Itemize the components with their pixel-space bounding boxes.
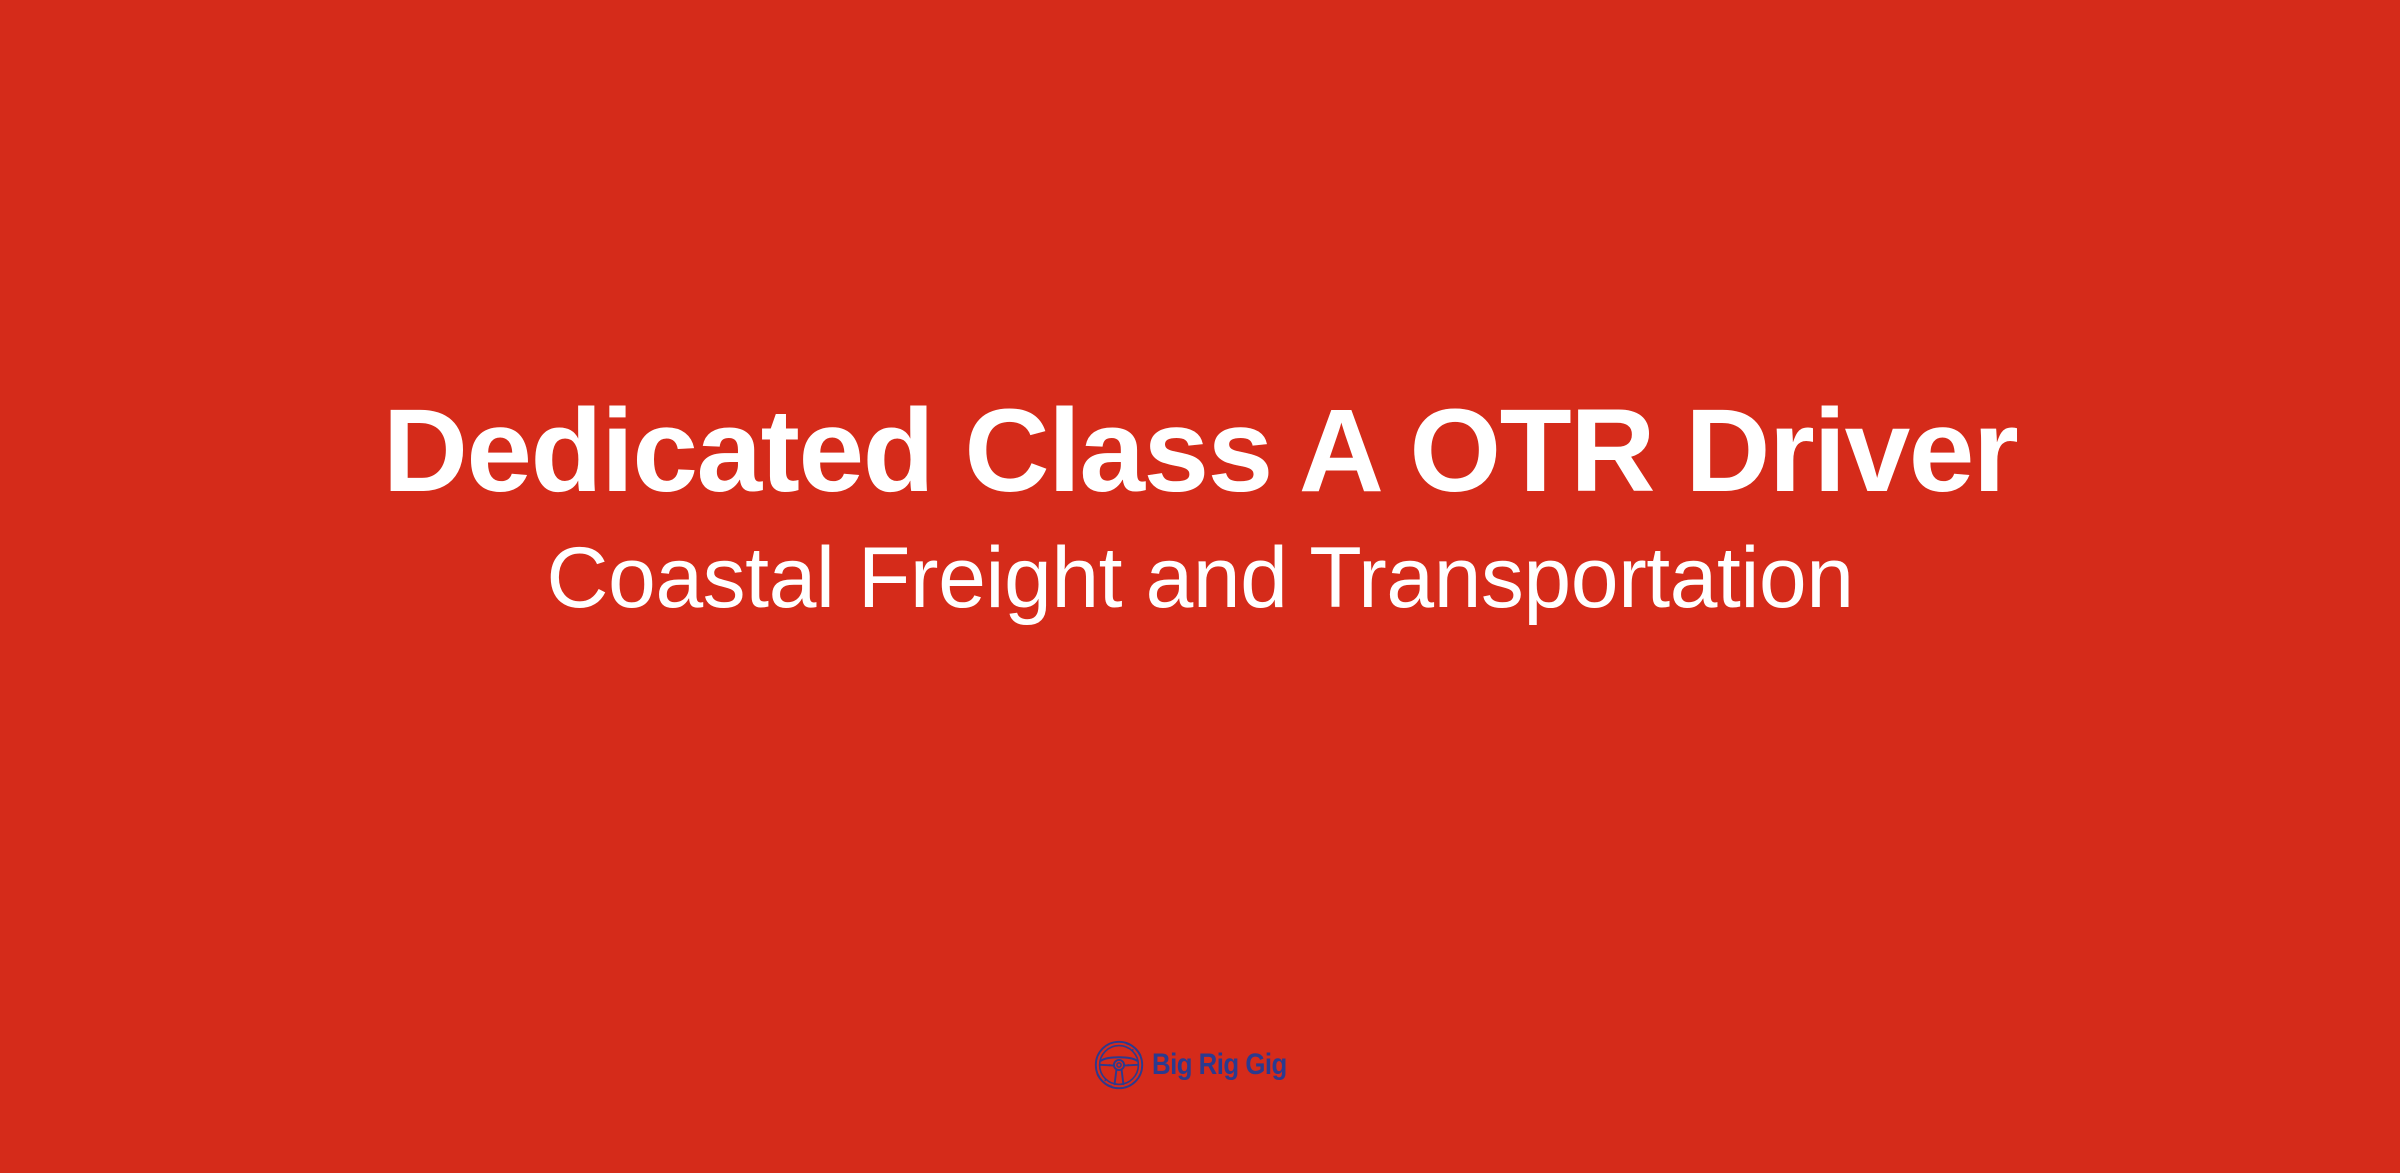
brand-logo: Big Rig Gig — [0, 1038, 2400, 1092]
hero-text-block: Dedicated Class A OTR Driver Coastal Fre… — [0, 385, 2400, 626]
company-subtitle: Coastal Freight and Transportation — [546, 530, 1853, 626]
brand-wordmark: Big Rig Gig — [1152, 1050, 1287, 1080]
page-title: Dedicated Class A OTR Driver — [383, 385, 2018, 517]
steering-wheel-icon — [1092, 1038, 1146, 1092]
job-posting-card: Dedicated Class A OTR Driver Coastal Fre… — [0, 0, 2400, 1173]
